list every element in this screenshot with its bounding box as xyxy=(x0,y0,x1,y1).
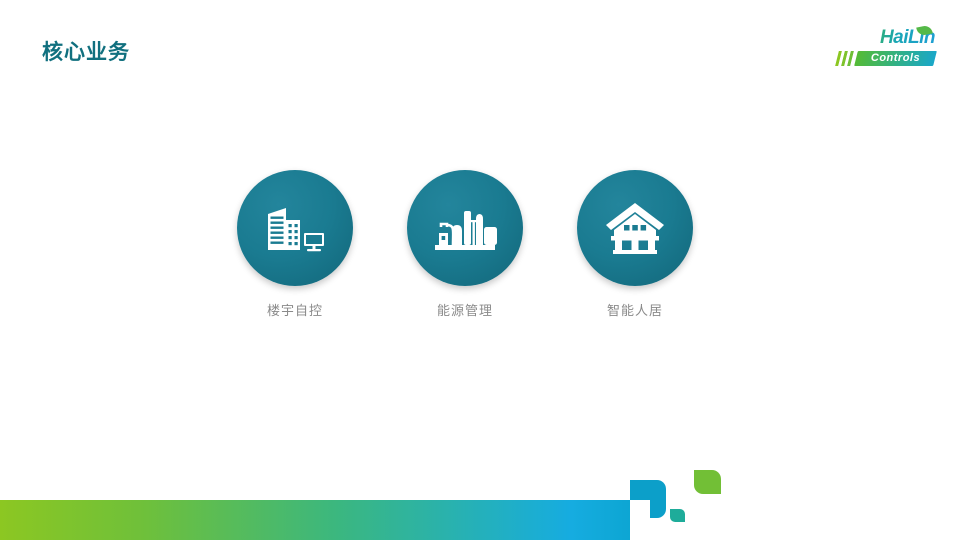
house-icon xyxy=(604,200,666,256)
business-item-label: 楼宇自控 xyxy=(215,300,375,319)
logo-subtext: Controls xyxy=(856,51,935,66)
icon-circle-building-automation[interactable] xyxy=(237,170,353,286)
business-item-smart-living[interactable]: 智能人居 xyxy=(555,170,715,319)
business-item-label: 能源管理 xyxy=(385,300,545,319)
business-item-label: 智能人居 xyxy=(555,300,715,319)
industrial-plant-icon xyxy=(433,201,497,255)
business-item-building-automation[interactable]: 楼宇自控 xyxy=(215,170,375,319)
logo-subtext-banner: Controls xyxy=(854,51,937,66)
logo-banner: Controls xyxy=(837,51,935,66)
slide-canvas: 核心业务 HaiLin Controls xyxy=(0,0,960,540)
decoration-square-teal xyxy=(670,509,685,522)
page-title: 核心业务 xyxy=(42,40,130,65)
icon-circle-energy-management[interactable] xyxy=(407,170,523,286)
bars-icon xyxy=(835,51,856,66)
core-business-group: 楼宇自控 xyxy=(0,170,960,340)
icon-circle-smart-living[interactable] xyxy=(577,170,693,286)
decoration-notch xyxy=(630,500,650,540)
brand-logo: HaiLin Controls xyxy=(835,27,935,71)
business-item-energy-management[interactable]: 能源管理 xyxy=(385,170,545,319)
office-building-monitor-icon xyxy=(264,200,326,256)
footer-gradient-bar xyxy=(0,500,648,540)
decoration-square-green xyxy=(694,470,721,494)
